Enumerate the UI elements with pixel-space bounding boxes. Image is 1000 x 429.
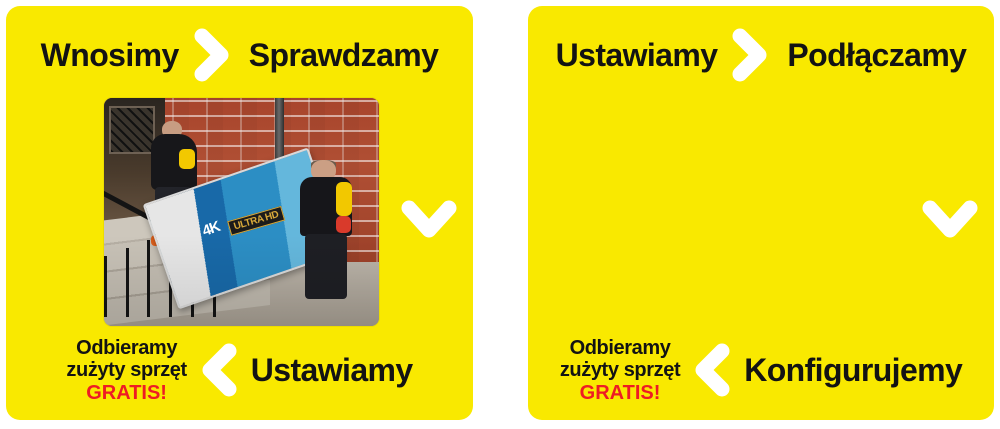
photo-delivery-carrying-tv: 4K ULTRA HD <box>104 98 379 326</box>
panel-left-footer-row: Odbieramy zużyty sprzęt GRATIS! Ustawiam… <box>6 337 473 404</box>
panel-right-header-row: Ustawiamy Podłączamy <box>528 32 994 78</box>
recycle-note-right: Odbieramy zużyty sprzęt GRATIS! <box>560 337 680 404</box>
recycle-gratis-badge: GRATIS! <box>560 382 680 404</box>
recycle-line-1: Odbieramy <box>570 337 671 359</box>
panel-left-header-row: Wnosimy Sprawdzamy <box>6 32 473 78</box>
chevron-left-icon <box>690 342 736 398</box>
recycle-line-2: zużyty sprzęt <box>560 359 680 381</box>
tv-label-4k: 4K <box>200 219 222 241</box>
chevron-down-icon <box>922 197 978 243</box>
panel-right-footer-row: Odbieramy zużyty sprzęt GRATIS! Konfigur… <box>528 337 994 404</box>
tv-label-ultrahd: ULTRA HD <box>227 206 285 236</box>
step-label-wnosimy: Wnosimy <box>41 39 179 71</box>
recycle-line-1: Odbieramy <box>76 337 177 359</box>
service-steps-banner: Wnosimy Sprawdzamy <box>0 0 1000 429</box>
step-label-sprawdzamy: Sprawdzamy <box>249 39 439 71</box>
step-label-konfigurujemy: Konfigurujemy <box>744 354 962 386</box>
service-panel-right: Ustawiamy Podłączamy <box>528 6 994 420</box>
step-label-ustawiamy-left: Ustawiamy <box>251 354 413 386</box>
chevron-right-icon <box>191 28 235 82</box>
recycle-note-left: Odbieramy zużyty sprzęt GRATIS! <box>66 337 186 404</box>
chevron-right-icon <box>729 28 773 82</box>
step-label-podlaczamy: Podłączamy <box>787 39 966 71</box>
chevron-left-icon <box>197 342 243 398</box>
recycle-gratis-badge: GRATIS! <box>66 382 186 404</box>
worker-front <box>297 160 358 301</box>
service-panel-left: Wnosimy Sprawdzamy <box>6 6 473 420</box>
step-label-ustawiamy-right: Ustawiamy <box>556 39 718 71</box>
recycle-line-2: zużyty sprzęt <box>66 359 186 381</box>
chevron-down-icon <box>401 197 457 243</box>
